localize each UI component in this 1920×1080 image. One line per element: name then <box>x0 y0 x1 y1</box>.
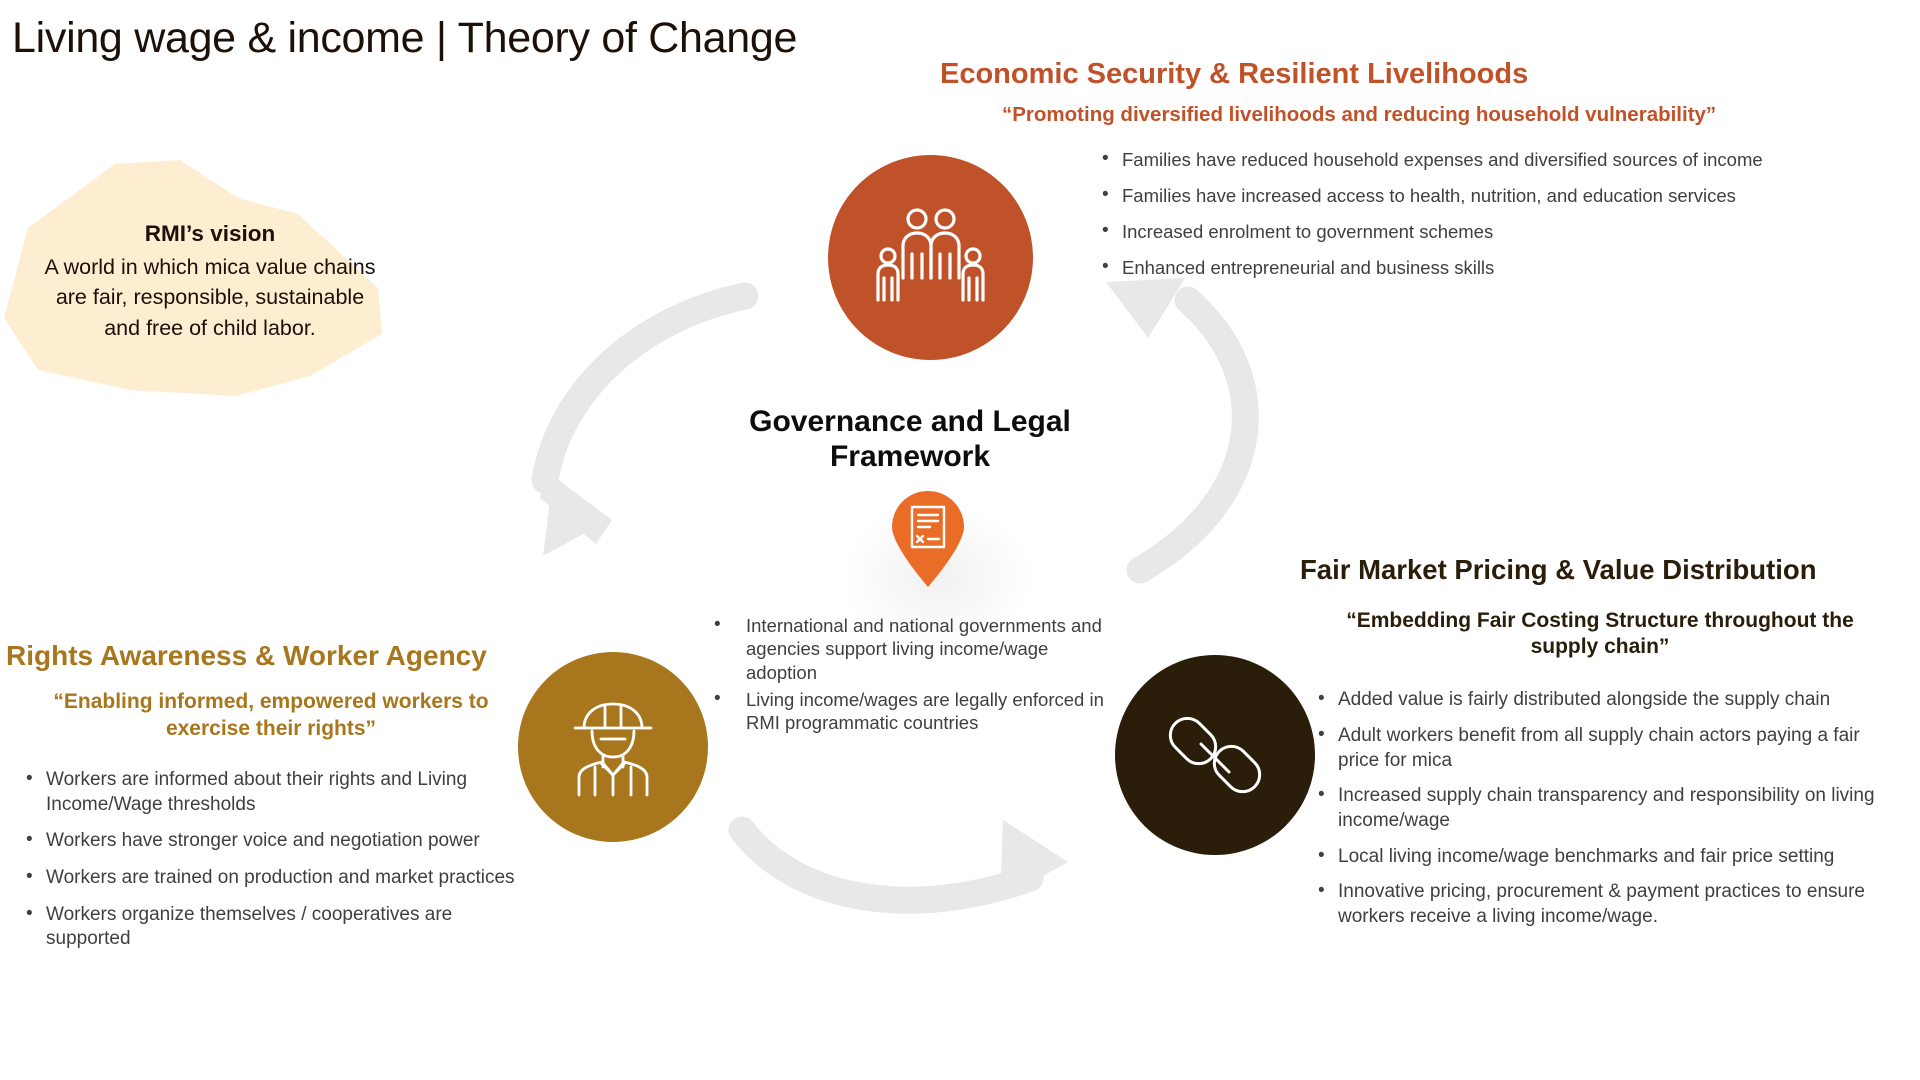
chain-link-icon <box>1166 706 1264 804</box>
list-item: Increased supply chain transparency and … <box>1316 784 1900 833</box>
list-item: Families have reduced household expenses… <box>1100 148 1900 171</box>
rights-quote-line-2: exercise their rights” <box>166 717 376 740</box>
governance-bullet-list: International and national governments a… <box>700 614 1120 734</box>
fair-market-bullet-list: Added value is fairly distributed alongs… <box>1300 688 1900 930</box>
governance-title-line-2: Framework <box>830 440 990 473</box>
fair-market-quote: “Embedding Fair Costing Structure throug… <box>1300 608 1900 661</box>
list-item: Workers are informed about their rights … <box>24 768 536 817</box>
diagram-canvas: Living wage & income | Theory of Change … <box>0 0 1920 1080</box>
list-item: Adult workers benefit from all supply ch… <box>1316 724 1900 773</box>
list-item: Workers are trained on production and ma… <box>24 866 536 891</box>
list-item: Workers have stronger voice and negotiat… <box>24 829 536 854</box>
rights-quote: “Enabling informed, empowered workers to… <box>6 689 536 742</box>
rights-awareness-circle[interactable] <box>518 652 708 842</box>
list-item: Living income/wages are legally enforced… <box>710 688 1120 735</box>
arrow-rights-to-fair-market <box>742 820 1068 900</box>
list-item: Increased enrolment to government scheme… <box>1100 220 1900 243</box>
arrow-fair-market-to-economic <box>1106 278 1245 570</box>
governance-title: Governance and Legal Framework <box>700 405 1120 474</box>
fair-market-block: Fair Market Pricing & Value Distribution… <box>1300 555 1900 941</box>
governance-title-line-1: Governance and Legal <box>749 405 1071 438</box>
rights-quote-line-1: “Enabling informed, empowered workers to <box>53 690 488 713</box>
governance-block: Governance and Legal Framework Internati… <box>700 405 1120 738</box>
economic-security-block: Economic Security & Resilient Livelihood… <box>940 58 1900 293</box>
list-item: Enhanced entrepreneurial and business sk… <box>1100 256 1900 279</box>
fair-market-quote-line-1: “Embedding Fair Costing Structure throug… <box>1346 609 1816 632</box>
rights-awareness-block: Rights Awareness & Worker Agency “Enabli… <box>6 640 536 964</box>
list-item: Families have increased access to health… <box>1100 184 1900 207</box>
fair-market-circle[interactable] <box>1115 655 1315 855</box>
list-item: Innovative pricing, procurement & paymen… <box>1316 880 1900 929</box>
rights-title: Rights Awareness & Worker Agency <box>6 640 536 671</box>
economic-title: Economic Security & Resilient Livelihood… <box>940 58 1900 90</box>
economic-bullet-list: Families have reduced household expenses… <box>940 148 1900 280</box>
list-item: Local living income/wage benchmarks and … <box>1316 845 1900 870</box>
rights-bullet-list: Workers are informed about their rights … <box>6 768 536 952</box>
worker-helmet-icon <box>565 695 661 799</box>
fair-market-title: Fair Market Pricing & Value Distribution <box>1300 555 1900 586</box>
list-item: Added value is fairly distributed alongs… <box>1316 688 1900 713</box>
list-item: International and national governments a… <box>710 614 1120 684</box>
list-item: Workers organize themselves / cooperativ… <box>24 903 536 952</box>
economic-quote: “Promoting diversified livelihoods and r… <box>940 102 1900 128</box>
